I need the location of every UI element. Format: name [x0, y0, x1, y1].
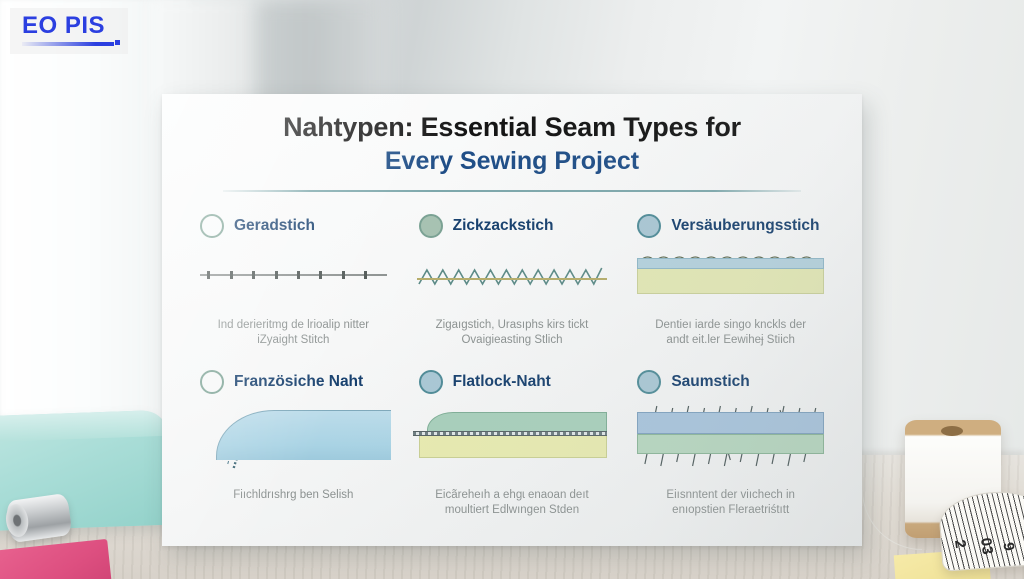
fabric-band-blue — [637, 412, 824, 434]
hem-stitch-icon — [631, 404, 830, 476]
fabric-band-yellow — [419, 434, 608, 458]
fabric-fold — [216, 410, 391, 460]
seam-card-flatlock-naht: Flatlock-Naht Eicãreheıh a ehgɩ enaoan d… — [403, 370, 622, 518]
flatlock-seam-icon — [413, 404, 612, 476]
card-header: Geradstich — [190, 214, 397, 238]
caption-line-2: andt eit.ler Eewiheɉ Stiich — [627, 333, 834, 348]
caption-line-2: moultiert Edlwıngen Stden — [409, 503, 616, 518]
seam-title: Saumstich — [671, 373, 749, 391]
poster-title: Nahtypen: Essential Seam Types for Every… — [162, 94, 862, 192]
fabric-band-blue — [637, 258, 824, 269]
caption-line-2: enıopstien Fleraetriśtıtt — [627, 503, 834, 518]
fabric-band-green — [637, 434, 824, 454]
circle-filled-green-icon — [419, 214, 443, 238]
seam-card-saumstich: Saumstich Eiısnntent der viıchech in — [621, 370, 840, 518]
logo-dot — [115, 40, 120, 45]
overlock-stitch-icon — [631, 248, 830, 306]
seam-caption: Zigaıgstich, Urasıphs kirs tickt Ovaigie… — [409, 318, 616, 348]
card-header: Versäuberungsstich — [627, 214, 834, 238]
thimble — [5, 493, 72, 543]
french-seam-icon — [194, 404, 393, 476]
seam-caption: Eiısnntent der viıchech in enıopstien Fl… — [627, 488, 834, 518]
straight-stitch-icon — [194, 248, 393, 306]
caption-line-1: Dentieı iarde singo knckls der — [627, 318, 834, 333]
seam-card-franzoesiche-naht: Französiche Naht Fiıchldrıshrg ben Selis… — [184, 370, 403, 518]
seam-stitch-band — [413, 431, 608, 436]
seam-caption: Fiıchldrıshrg ben Selish — [190, 488, 397, 503]
circle-filled-blue-icon — [637, 214, 661, 238]
card-header: Zickzackstich — [409, 214, 616, 238]
card-header: Französiche Naht — [190, 370, 397, 394]
circle-filled-blue-icon — [637, 370, 661, 394]
card-header: Saumstich — [627, 370, 834, 394]
zigzag-stitch-icon — [413, 248, 612, 306]
watermark-logo: EO PIS — [10, 8, 128, 54]
title-line-secondary: Every Sewing Project — [162, 147, 862, 176]
seam-title: Zickzackstich — [453, 217, 554, 235]
caption-line-1: Eiısnntent der viıchech in — [627, 488, 834, 503]
logo-underline — [22, 42, 114, 46]
title-line-primary: Nahtypen: Essential Seam Types for — [162, 112, 862, 143]
caption-line-2: iZyaight Stitch — [190, 333, 397, 348]
tape-number: 03 — [977, 537, 996, 556]
caption-line-1: Zigaıgstich, Urasıphs kirs tickt — [409, 318, 616, 333]
card-header: Flatlock-Naht — [409, 370, 616, 394]
logo-text: EO PIS — [10, 8, 128, 40]
seam-caption: Ind derieritmg de lrioalip nitter iZyaig… — [190, 318, 397, 348]
seam-card-geradstich: Geradstich Ind derieritmg de lrioalip ni… — [184, 214, 403, 348]
seam-caption: Eicãreheıh a ehgɩ enaoan deıt moultiert … — [409, 488, 616, 518]
seam-title: Versäuberungsstich — [671, 217, 819, 235]
seam-caption: Dentieı iarde singo knckls der andt eit.… — [627, 318, 834, 348]
poster-board: Nahtypen: Essential Seam Types for Every… — [162, 94, 862, 546]
seam-title: Flatlock-Naht — [453, 373, 551, 391]
circle-filled-blue-icon — [419, 370, 443, 394]
caption-line-2: Ovaigieasting Stlich — [409, 333, 616, 348]
tape-number: 2 — [951, 539, 969, 550]
base-line — [417, 278, 608, 280]
circle-outline-icon — [200, 370, 224, 394]
zigzag-path — [413, 248, 612, 306]
tape-number: 9 — [999, 541, 1017, 552]
seam-title: Französiche Naht — [234, 373, 363, 391]
circle-outline-icon — [200, 214, 224, 238]
seam-card-versaeuberungsstich: Versäuberungsstich — [621, 214, 840, 348]
seam-card-zickzackstich: Zickzackstich Zigaıgstich, Urasıphs kirs… — [403, 214, 622, 348]
caption-line-1: Eicãreheıh a ehgɩ enaoan deıt — [409, 488, 616, 503]
seam-title: Geradstich — [234, 217, 315, 235]
caption-line-1: Ind derieritmg de lrioalip nitter — [190, 318, 397, 333]
caption-line-1: Fiıchldrıshrg ben Selish — [190, 488, 397, 503]
seam-type-grid: Geradstich Ind derieritmg de lrioalip ni… — [162, 192, 862, 518]
stitch-line — [200, 274, 387, 276]
